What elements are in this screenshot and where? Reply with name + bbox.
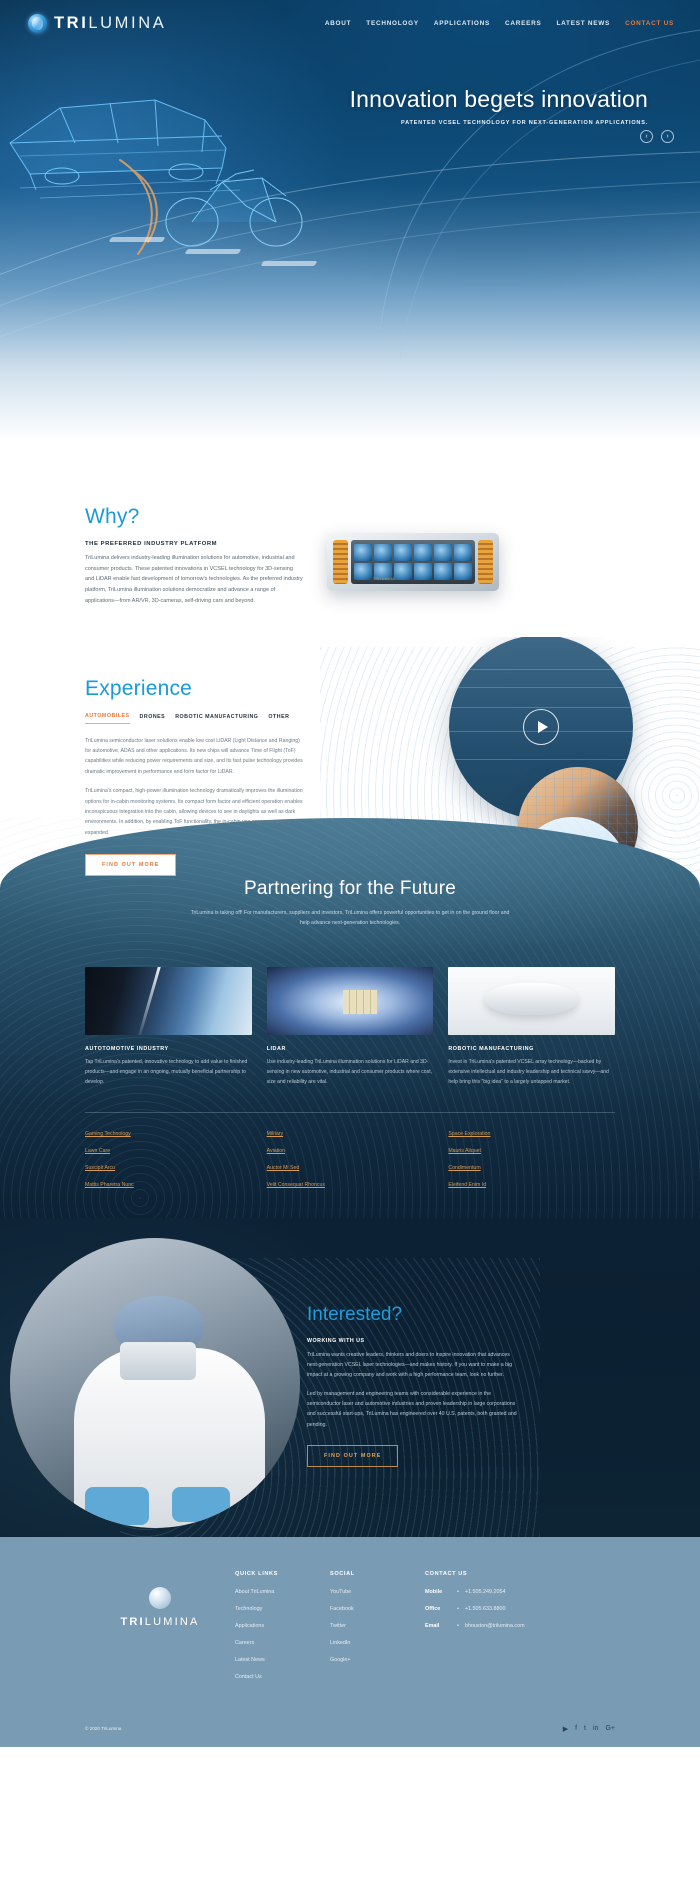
card-body: Use industry-leading TriLumina illuminat… [267, 1058, 434, 1088]
link-item[interactable]: Lawn Care [85, 1148, 252, 1154]
nav-item-careers[interactable]: CAREERS [505, 20, 542, 27]
link-item[interactable]: Gaming Technology [85, 1131, 252, 1137]
chip-label: TRILUMINA [373, 577, 395, 581]
tab-robotic-manufacturing[interactable]: ROBOTIC MANUFACTURING [175, 714, 258, 724]
footer-link-contact-us[interactable]: Contact Us [235, 1674, 330, 1680]
section-divider [85, 1112, 615, 1113]
hero-subtitle: PATENTED VCSEL TECHNOLOGY FOR NEXT-GENER… [0, 120, 676, 126]
twitter-icon[interactable]: t [584, 1725, 586, 1732]
chip-pins-left [333, 540, 348, 584]
contact-label: Mobile [425, 1589, 451, 1595]
footer-quick-links: QUICK LINKS About TriLumina Technology A… [235, 1571, 330, 1691]
card-lidar[interactable]: LIDAR Use industry-leading TriLumina ill… [267, 967, 434, 1088]
partnering-subtitle: TriLumina is taking off! For manufacture… [185, 909, 515, 929]
carousel-prev-icon[interactable]: ‹ [640, 130, 653, 143]
links-column-1: Gaming Technology Lawn Care Suscipit Arc… [85, 1131, 252, 1188]
vcsel-chip-image: TRILUMINA [327, 533, 499, 591]
interested-find-out-more-button[interactable]: FIND OUT MORE [307, 1445, 398, 1467]
experience-tabs: AUTOMOBILES DRONES ROBOTIC MANUFACTURING… [85, 713, 303, 724]
contact-row-mobile: Mobile • +1.505.249.2054 [425, 1589, 615, 1595]
logo-wordmark: TRILUMINA [54, 14, 166, 33]
chip-pins-right [478, 540, 493, 584]
nav-item-latest-news[interactable]: LATEST NEWS [557, 20, 611, 27]
link-item[interactable]: Military [267, 1131, 434, 1137]
why-heading: Why? [85, 505, 303, 529]
links-column-3: Space Exploration Mauris Aliquet Condime… [448, 1131, 615, 1188]
card-title: AUTOTOMOTIVE INDUSTRY [85, 1046, 252, 1052]
nav-item-about[interactable]: ABOUT [325, 20, 351, 27]
footer-contact-heading: CONTACT US [425, 1571, 615, 1577]
main-navigation: TRILUMINA ABOUT TECHNOLOGY APPLICATIONS … [0, 0, 700, 33]
footer-link-youtube[interactable]: YouTube [330, 1589, 425, 1595]
application-links: Gaming Technology Lawn Care Suscipit Arc… [85, 1131, 615, 1188]
linkedin-icon[interactable]: in [593, 1725, 598, 1732]
footer-wordmark: TRILUMINA [85, 1616, 235, 1628]
footer-link-linkedin[interactable]: LinkedIn [330, 1640, 425, 1646]
card-title: LIDAR [267, 1046, 434, 1052]
experience-find-out-more-button[interactable]: FIND OUT MORE [85, 854, 176, 876]
footer-social-icons: ▶ f t in G+ [563, 1725, 615, 1733]
trilumina-logo-icon [149, 1587, 171, 1609]
partnering-heading: Partnering for the Future [0, 878, 700, 900]
card-robotic-manufacturing[interactable]: ROBOTIC MANUFACTURING Invest in TriLumin… [448, 967, 615, 1088]
facebook-icon[interactable]: f [575, 1725, 577, 1732]
carousel-next-icon[interactable]: › [661, 130, 674, 143]
card-title: ROBOTIC MANUFACTURING [448, 1046, 615, 1052]
footer-quick-links-heading: QUICK LINKS [235, 1571, 330, 1577]
card-body: Invest in TriLumina's patented VCSEL arr… [448, 1058, 615, 1088]
contact-value[interactable]: +1.505.249.2054 [465, 1589, 506, 1595]
contact-row-email: Email • bhouston@trilumina.com [425, 1623, 615, 1629]
hero-carousel-controls: ‹ › [640, 130, 674, 143]
hero-section: TRILUMINA ABOUT TECHNOLOGY APPLICATIONS … [0, 0, 700, 440]
experience-heading: Experience [85, 677, 303, 701]
copyright-text: © 2020 TriLumina [85, 1726, 121, 1731]
link-item[interactable]: Mattis Pharetra Nunc [85, 1182, 252, 1188]
googleplus-icon[interactable]: G+ [605, 1725, 615, 1732]
footer-link-applications[interactable]: Applications [235, 1623, 330, 1629]
nav-item-applications[interactable]: APPLICATIONS [434, 20, 490, 27]
interested-heading: Interested? [307, 1304, 517, 1326]
footer-link-facebook[interactable]: Facebook [330, 1606, 425, 1612]
interested-kicker: WORKING WITH US [307, 1338, 517, 1344]
link-item[interactable]: Auctor Mi Sed [267, 1165, 434, 1171]
site-logo[interactable]: TRILUMINA [28, 14, 166, 33]
tab-automobiles[interactable]: AUTOMOBILES [85, 713, 130, 724]
contact-row-office: Office • +1.505.633.8800 [425, 1606, 615, 1612]
trilumina-logo-icon [28, 14, 47, 33]
lidar-wave-icon [118, 150, 238, 260]
footer-link-careers[interactable]: Careers [235, 1640, 330, 1646]
partnering-cards: AUTOTOMOTIVE INDUSTRY Tap TriLumina's pa… [85, 967, 615, 1088]
why-illustration: TRILUMINA [333, 505, 615, 607]
hero-arc-decoration [0, 0, 700, 440]
footer-social-heading: SOCIAL [330, 1571, 425, 1577]
tab-other[interactable]: OTHER [268, 714, 289, 724]
partnering-section: Partnering for the Future TriLumina is t… [0, 818, 700, 1218]
footer-contact: CONTACT US Mobile • +1.505.249.2054 Offi… [425, 1571, 615, 1691]
card-image-robotic [448, 967, 615, 1035]
interested-paragraph-2: Led by management and engineering teams … [307, 1389, 517, 1430]
links-column-2: Military Aviation Auctor Mi Sed Velit Co… [267, 1131, 434, 1188]
homepage: TRILUMINA ABOUT TECHNOLOGY APPLICATIONS … [0, 0, 700, 1747]
footer-social-links: SOCIAL YouTube Facebook Twitter LinkedIn… [330, 1571, 425, 1691]
footer-link-twitter[interactable]: Twitter [330, 1623, 425, 1629]
contact-separator: • [457, 1589, 459, 1595]
hero-title: Innovation begets innovation [0, 86, 676, 113]
road-marking [260, 261, 317, 266]
contact-value[interactable]: bhouston@trilumina.com [465, 1623, 525, 1629]
card-body: Tap TriLumina's patented, innovative tec… [85, 1058, 252, 1088]
interested-section: Interested? WORKING WITH US TriLumina wa… [0, 1218, 700, 1537]
road-marking [108, 237, 165, 242]
why-body: TriLumina delivers industry-leading illu… [85, 553, 303, 607]
card-image-automotive [85, 967, 252, 1035]
contact-value[interactable]: +1.505.633.8800 [465, 1606, 506, 1612]
nav-item-contact-us[interactable]: CONTACT US [625, 20, 674, 27]
road-marking [184, 249, 241, 254]
experience-paragraph-2: TriLumina's compact, high-power illumina… [85, 786, 303, 838]
nav-item-technology[interactable]: TECHNOLOGY [366, 20, 419, 27]
hero-copy: Innovation begets innovation PATENTED VC… [0, 86, 676, 126]
interested-paragraph-1: TriLumina wants creative leaders, thinke… [307, 1350, 517, 1380]
link-item[interactable]: Aviation [267, 1148, 434, 1154]
youtube-icon[interactable]: ▶ [563, 1725, 568, 1733]
experience-paragraph-1: TriLumina semiconductor laser solutions … [85, 736, 303, 778]
card-automotive-industry[interactable]: AUTOTOMOTIVE INDUSTRY Tap TriLumina's pa… [85, 967, 252, 1088]
link-item[interactable]: Mauris Aliquet [448, 1148, 615, 1154]
link-item[interactable]: Suscipit Arcu [85, 1165, 252, 1171]
nav-links: ABOUT TECHNOLOGY APPLICATIONS CAREERS LA… [325, 20, 678, 27]
link-item[interactable]: Eleifend Enim Id [448, 1182, 615, 1188]
link-item[interactable]: Condimentum [448, 1165, 615, 1171]
chip-core [351, 540, 475, 584]
why-section: Why? THE PREFERRED INDUSTRY PLATFORM Tri… [0, 440, 700, 637]
link-item[interactable]: Velit Consequat Rhoncus [267, 1182, 434, 1188]
footer-link-technology[interactable]: Technology [235, 1606, 330, 1612]
contact-separator: • [457, 1606, 459, 1612]
footer-link-latest-news[interactable]: Latest News [235, 1657, 330, 1663]
play-icon[interactable] [523, 709, 559, 745]
why-kicker: THE PREFERRED INDUSTRY PLATFORM [85, 541, 303, 547]
footer-link-about[interactable]: About TriLumina [235, 1589, 330, 1595]
card-image-lidar [267, 967, 434, 1035]
footer-bottom-bar: © 2020 TriLumina ▶ f t in G+ [85, 1715, 615, 1747]
site-footer: TRILUMINA QUICK LINKS About TriLumina Te… [0, 1537, 700, 1747]
footer-logo[interactable]: TRILUMINA [85, 1571, 235, 1691]
contact-label: Email [425, 1623, 451, 1629]
tab-drones[interactable]: DRONES [140, 714, 166, 724]
footer-link-googleplus[interactable]: Google+ [330, 1657, 425, 1663]
wireframe-car-illustration [0, 48, 320, 278]
contact-separator: • [457, 1623, 459, 1629]
contact-label: Office [425, 1606, 451, 1612]
link-item[interactable]: Space Exploration [448, 1131, 615, 1137]
wireframe-motorcycle-illustration [150, 130, 330, 280]
